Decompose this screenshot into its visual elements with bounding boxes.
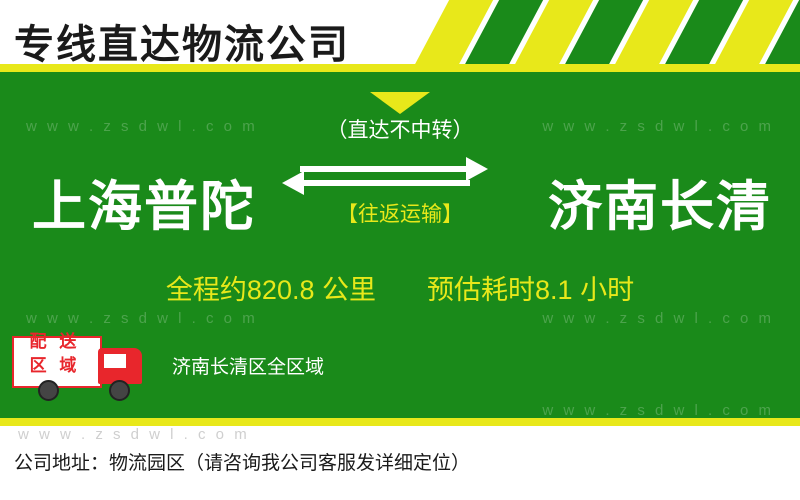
- header-bar: 专线直达物流公司: [0, 0, 800, 72]
- route-note-top: （直达不中转）: [290, 114, 510, 144]
- truck-wheel-rear: [38, 380, 59, 401]
- delivery-area-text: 济南长清区全区域: [172, 352, 324, 379]
- footer-address-value: 物流园区（请咨询我公司客服发详细定位）: [109, 453, 470, 474]
- delivery-row: 配 送 区 域 济南长清区全区域: [0, 330, 800, 402]
- bidirectional-arrow-icon: [290, 152, 510, 196]
- duration-unit: 小时: [580, 275, 634, 305]
- watermark-footer: w w w . z s d w l . c o m: [18, 426, 250, 443]
- main-panel: w w w . z s d w l . c o m w w w . z s d …: [0, 72, 800, 424]
- truck-wheel-front: [109, 380, 130, 401]
- arrow-left-icon: [302, 180, 470, 186]
- footer-bar: w w w . z s d w l . c o m 公司地址：物流园区（请咨询我…: [0, 426, 800, 500]
- duration-label: 预估耗时: [427, 275, 535, 305]
- logistics-banner: 专线直达物流公司 w w w . z s d w l . c o m w w w…: [0, 0, 800, 500]
- watermark-left-2: w w w . z s d w l . c o m: [26, 310, 258, 327]
- truck-icon: 配 送 区 域: [12, 330, 162, 400]
- delivery-badge-line2: 区 域: [12, 354, 98, 378]
- watermark-right-1: w w w . z s d w l . c o m: [542, 118, 774, 135]
- divider-bottom: [0, 418, 800, 426]
- route-row: 上海普陀 （直达不中转） 【往返运输】 济南长清: [0, 162, 800, 262]
- origin-city: 上海普陀: [32, 162, 256, 241]
- route-note-bottom: 【往返运输】: [290, 198, 510, 228]
- arrow-right-icon: [300, 166, 468, 172]
- distance-unit: 公里: [322, 275, 376, 305]
- footer-address-label: 公司地址：: [14, 453, 109, 474]
- footer-address: 公司地址：物流园区（请咨询我公司客服发详细定位）: [14, 448, 470, 475]
- watermark-left-1: w w w . z s d w l . c o m: [26, 118, 258, 135]
- distance-label: 全程约: [166, 275, 247, 305]
- duration-value: 8.1: [535, 275, 573, 305]
- route-middle: （直达不中转） 【往返运输】: [290, 114, 510, 228]
- page-title: 专线直达物流公司: [14, 12, 350, 70]
- watermark-right-2: w w w . z s d w l . c o m: [542, 310, 774, 327]
- divider-top: [0, 64, 800, 72]
- delivery-badge-line1: 配 送: [12, 330, 98, 354]
- distance-value: 820.8: [247, 275, 315, 305]
- stats-row: 全程约820.8 公里 预估耗时8.1 小时: [0, 268, 800, 307]
- truck-window: [104, 354, 126, 368]
- watermark-right-3: w w w . z s d w l . c o m: [542, 402, 774, 419]
- chevron-decoration: [420, 0, 800, 72]
- down-arrow-icon: [370, 92, 430, 114]
- delivery-badge: 配 送 区 域: [12, 330, 98, 378]
- destination-city: 济南长清: [548, 162, 772, 241]
